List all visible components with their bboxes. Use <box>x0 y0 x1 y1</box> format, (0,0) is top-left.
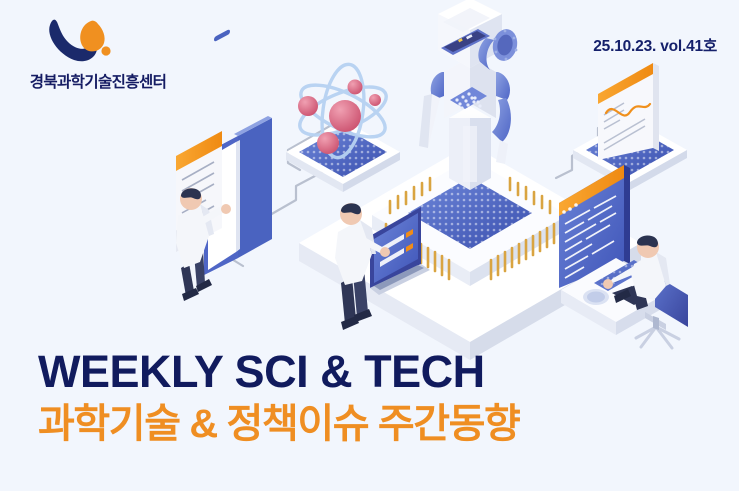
atom-electron <box>369 94 381 106</box>
title-korean: 과학기술 & 정책이슈 주간동향 <box>38 402 519 446</box>
atom-chip-node <box>286 62 400 192</box>
atom-electron <box>317 132 339 154</box>
issue-date-volume: 25.10.23. vol.41호 <box>593 34 717 56</box>
title-english: WEEKLY SCI & TECH <box>38 348 485 395</box>
person-with-phone-node <box>176 29 272 301</box>
chart-card <box>598 63 659 160</box>
atom-nucleus <box>329 100 361 132</box>
atom-electron <box>298 96 318 116</box>
logo-mark-icon <box>44 12 136 70</box>
newsletter-cover: 경북과학기술진흥센터 25.10.23. vol.41호 WEEKLY SCI … <box>0 0 739 491</box>
logo-wordmark: 경북과학기술진흥센터 <box>8 70 188 92</box>
robot <box>419 0 520 190</box>
atom-electron <box>348 80 363 95</box>
brand-logo[interactable]: 경북과학기술진흥센터 <box>8 12 188 96</box>
